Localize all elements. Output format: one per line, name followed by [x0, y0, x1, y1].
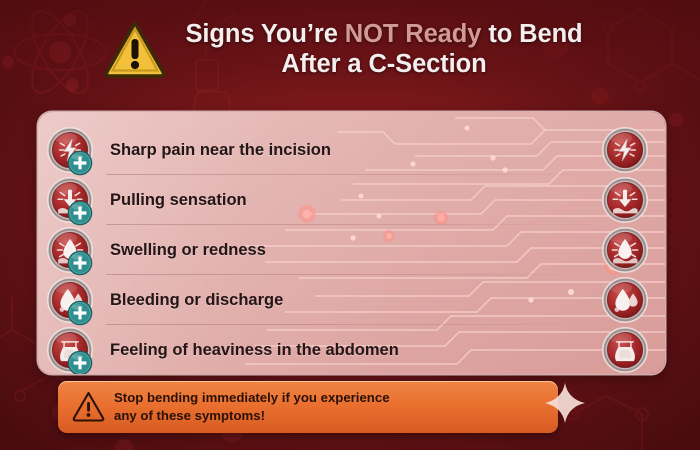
symptom-rows: Sharp pain near the incisionPulling sens… [38, 112, 665, 374]
symptom-row[interactable]: Swelling or redness [38, 224, 665, 276]
symptom-row[interactable]: Sharp pain near the incision [38, 124, 665, 176]
title-post: to Bend [481, 20, 582, 48]
swelling-drop-icon [602, 227, 648, 273]
lightning-bolt-icon [602, 127, 648, 173]
title-line-1: Signs You’re NOT Ready to Bend [160, 19, 608, 49]
symptom-label: Feeling of heaviness in the abdomen [110, 341, 399, 360]
symptom-label: Swelling or redness [110, 241, 266, 260]
symptoms-panel: Sharp pain near the incisionPulling sens… [38, 112, 665, 374]
warning-banner: Stop bending immediately if you experien… [58, 381, 558, 433]
sparkle-icon [541, 379, 589, 427]
symptom-row[interactable]: Pulling sensation [38, 174, 665, 226]
title-pre: Signs You’re [185, 20, 344, 48]
banner-line-2: any of these symptoms! [114, 407, 390, 425]
symptom-label: Bleeding or discharge [110, 291, 283, 310]
symptom-label: Sharp pain near the incision [110, 141, 331, 160]
warning-triangle-icon [104, 20, 166, 78]
plus-badge-icon[interactable] [67, 350, 93, 374]
banner-text: Stop bending immediately if you experien… [114, 389, 390, 424]
weight-sack-icon [602, 327, 648, 373]
page-title: Signs You’re NOT Ready to Bend After a C… [160, 19, 608, 79]
plus-badge-icon[interactable] [67, 150, 93, 176]
header-band: Signs You’re NOT Ready to Bend After a C… [0, 0, 700, 100]
title-line-2: After a C-Section [160, 49, 608, 79]
title-highlight: NOT Ready [345, 20, 482, 48]
warning-triangle-outline-icon [72, 391, 105, 422]
symptom-label: Pulling sensation [110, 191, 247, 210]
banner-line-1: Stop bending immediately if you experien… [114, 389, 390, 407]
symptom-row[interactable]: Feeling of heaviness in the abdomen [38, 324, 665, 374]
symptom-row[interactable]: Bleeding or discharge [38, 274, 665, 326]
down-arrow-icon [602, 177, 648, 223]
plus-badge-icon[interactable] [67, 300, 93, 326]
plus-badge-icon[interactable] [67, 200, 93, 226]
plus-badge-icon[interactable] [67, 250, 93, 276]
blood-drops-icon [602, 277, 648, 323]
